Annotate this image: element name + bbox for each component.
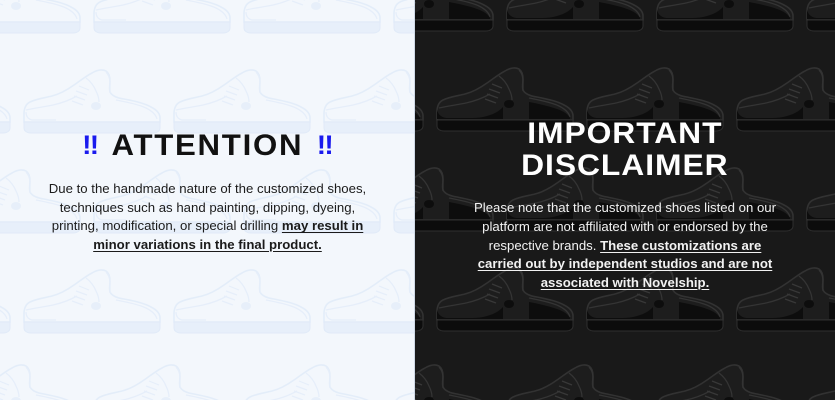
customization-notice-banner: ‼ ATTENTION ‼ Due to the handmade nature…	[0, 0, 835, 400]
double-exclamation-left-icon: ‼	[82, 132, 98, 159]
double-exclamation-right-icon: ‼	[317, 132, 333, 159]
disclaimer-panel: IMPORTANT DISCLAIMER Please note that th…	[415, 0, 835, 400]
disclaimer-content: IMPORTANT DISCLAIMER Please note that th…	[415, 0, 835, 293]
attention-body: Due to the handmade nature of the custom…	[49, 180, 367, 255]
disclaimer-heading: IMPORTANT DISCLAIMER	[521, 118, 728, 182]
panel-divider	[414, 0, 415, 400]
attention-panel: ‼ ATTENTION ‼ Due to the handmade nature…	[0, 0, 415, 400]
disclaimer-heading-line-1: IMPORTANT	[521, 118, 728, 150]
disclaimer-body: Please note that the customized shoes li…	[465, 199, 785, 293]
attention-heading: ‼ ATTENTION ‼	[82, 131, 332, 161]
attention-heading-text: ATTENTION	[112, 131, 304, 161]
disclaimer-heading-line-2: DISCLAIMER	[521, 150, 728, 182]
attention-content: ‼ ATTENTION ‼ Due to the handmade nature…	[0, 0, 415, 255]
